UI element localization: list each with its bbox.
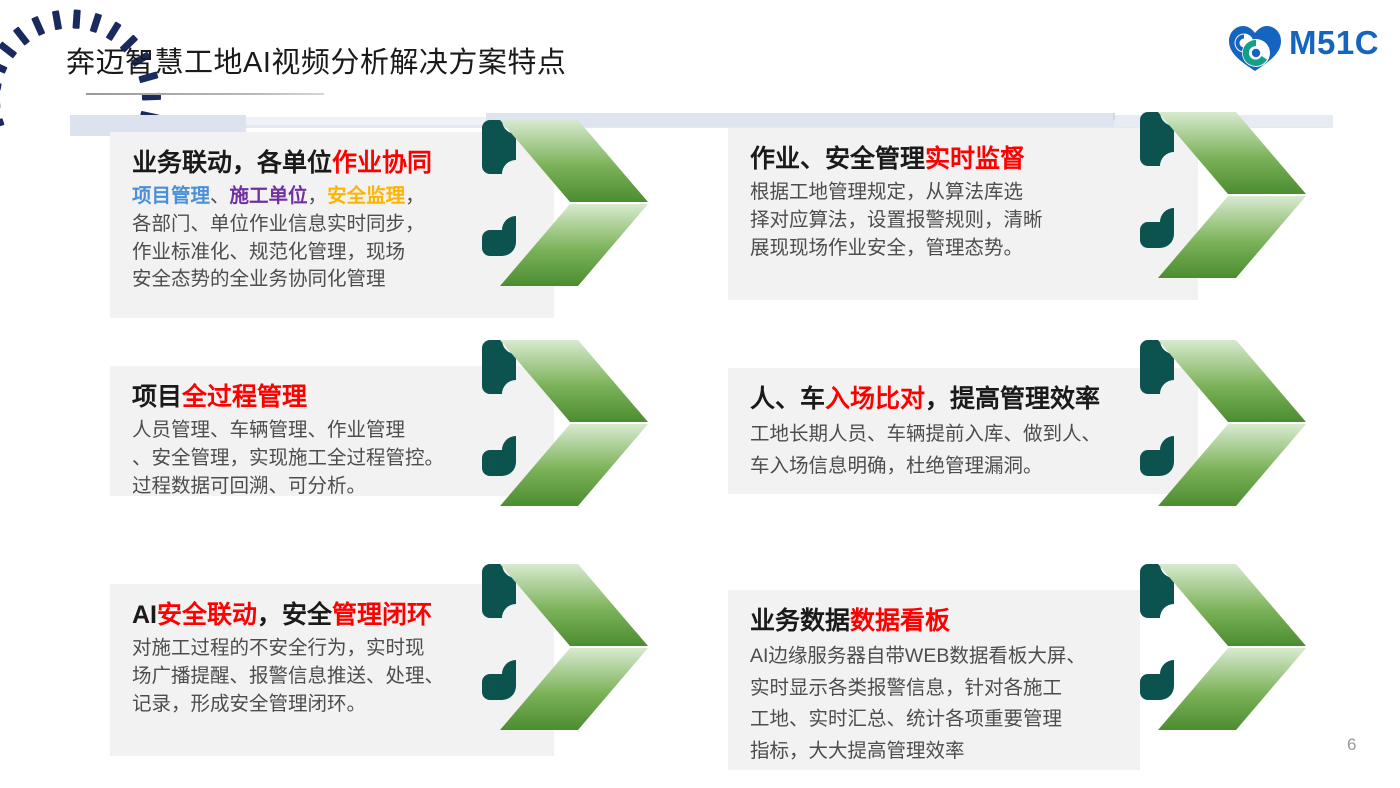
body-keyword: 安全监理	[327, 185, 405, 207]
card-content: 业务数据数据看板 AI边缘服务器自带WEB数据看板大屏、 实时显示各类报警信息，…	[750, 606, 1130, 768]
page-number: 6	[1347, 735, 1356, 755]
card-title-plain: 人、车	[750, 385, 825, 413]
ring-dash	[0, 80, 2, 90]
ring-dash	[90, 13, 103, 33]
card-body: 根据工地管理规定，从算法库选 择对应算法，设置报警规则，清晰 展现现场作业安全，…	[750, 179, 1108, 262]
card-title: 业务联动，各单位作业协同	[132, 148, 464, 179]
card-body: 对施工过程的不安全行为，实时现 场广播提醒、报警信息推送、处理、 记录，形成安全…	[132, 635, 464, 718]
card-content: AI安全联动，安全管理闭环 对施工过程的不安全行为，实时现 场广播提醒、报警信息…	[132, 600, 464, 718]
card-title-plain: AI	[132, 601, 157, 629]
card-data-dashboard[interactable]: 业务数据数据看板 AI边缘服务器自带WEB数据看板大屏、 实时显示各类报警信息，…	[728, 590, 1140, 770]
card-title-plain: 作业、安全管理	[750, 145, 925, 173]
card-title-highlight: 实时监督	[925, 145, 1025, 173]
card-title: 项目全过程管理	[132, 382, 464, 413]
card-content: 人、车入场比对，提高管理效率 工地长期人员、车辆提前入库、做到人、 车入场信息明…	[750, 384, 1168, 482]
card-title-highlight: 全过程管理	[182, 383, 307, 411]
card-entry-comparison[interactable]: 人、车入场比对，提高管理效率 工地长期人员、车辆提前入库、做到人、 车入场信息明…	[728, 368, 1198, 494]
band-tick	[1113, 113, 1115, 120]
chevron-arrow-icon	[1140, 560, 1312, 734]
ring-dash	[0, 41, 17, 58]
body-text: AI边缘服务器自带WEB数据看板大屏、 实时显示各类报警信息，针对各施工 工地、…	[750, 645, 1086, 762]
card-body: 项目管理、施工单位，安全监理， 各部门、单位作业信息实时同步， 作业标准化、规范…	[132, 183, 464, 294]
band-segment	[486, 113, 1114, 127]
body-text: 、	[210, 185, 230, 207]
card-realtime-supervision[interactable]: 作业、安全管理实时监督 根据工地管理规定，从算法库选 择对应算法，设置报警规则，…	[728, 128, 1198, 300]
card-title-highlight: 入场比对	[825, 385, 925, 413]
body-text: ，	[308, 185, 328, 207]
card-content: 业务联动，各单位作业协同 项目管理、施工单位，安全监理， 各部门、单位作业信息实…	[132, 148, 464, 294]
card-title-highlight: 作业协同	[332, 149, 432, 177]
card-title-highlight-2: 管理闭环	[332, 601, 432, 629]
card-full-process[interactable]: 项目全过程管理 人员管理、车辆管理、作业管理 、安全管理，实现施工全过程管控。 …	[110, 366, 554, 496]
card-title-mid: ，安全	[257, 601, 332, 629]
card-title: 人、车入场比对，提高管理效率	[750, 384, 1168, 415]
heart-cloud-logo-icon	[1227, 22, 1283, 72]
body-keyword: 项目管理	[132, 185, 210, 207]
body-text: 工地长期人员、车辆提前入库、做到人、 车入场信息明确，杜绝管理漏洞。	[750, 423, 1101, 477]
card-title-highlight: 数据看板	[850, 607, 950, 635]
card-title-tail: ，提高管理效率	[925, 385, 1100, 413]
ring-dash	[52, 10, 62, 30]
logo-wordmark: M51C	[1289, 24, 1379, 62]
card-body: 工地长期人员、车辆提前入库、做到人、 车入场信息明确，杜绝管理漏洞。	[750, 419, 1168, 482]
card-title: 业务数据数据看板	[750, 606, 1130, 637]
page-title: 奔迈智慧工地AI视频分析解决方案特点	[66, 39, 566, 81]
body-text: 人员管理、车辆管理、作业管理 、安全管理，实现施工全过程管控。 过程数据可回溯、…	[132, 419, 444, 496]
ring-dash	[31, 16, 45, 36]
ring-dash	[72, 9, 80, 28]
card-body: 人员管理、车辆管理、作业管理 、安全管理，实现施工全过程管控。 过程数据可回溯、…	[132, 417, 464, 500]
card-title-highlight: 安全联动	[157, 601, 257, 629]
band-segment	[246, 117, 486, 125]
title-underline-rule	[86, 93, 324, 95]
card-content: 作业、安全管理实时监督 根据工地管理规定，从算法库选 择对应算法，设置报警规则，…	[750, 144, 1108, 262]
body-text: 根据工地管理规定，从算法库选 择对应算法，设置报警规则，清晰 展现现场作业安全，…	[750, 181, 1043, 258]
card-title-plain: 项目	[132, 383, 182, 411]
band-segment	[1114, 115, 1333, 127]
ring-dash	[13, 26, 30, 45]
card-title-plain: 业务数据	[750, 607, 850, 635]
card-content: 项目全过程管理 人员管理、车辆管理、作业管理 、安全管理，实现施工全过程管控。 …	[132, 382, 464, 500]
card-business-linkage[interactable]: 业务联动，各单位作业协同 项目管理、施工单位，安全监理， 各部门、单位作业信息实…	[110, 132, 554, 318]
body-text: 对施工过程的不安全行为，实时现 场广播提醒、报警信息推送、处理、 记录，形成安全…	[132, 637, 444, 714]
brand-logo: M51C	[1227, 20, 1387, 76]
ring-dash	[0, 60, 8, 74]
card-title-plain: 业务联动，各单位	[132, 149, 332, 177]
card-title: AI安全联动，安全管理闭环	[132, 600, 464, 631]
card-body: AI边缘服务器自带WEB数据看板大屏、 实时显示各类报警信息，针对各施工 工地、…	[750, 641, 1130, 767]
card-title: 作业、安全管理实时监督	[750, 144, 1108, 175]
body-keyword: 施工单位	[230, 185, 308, 207]
card-ai-safety-loop[interactable]: AI安全联动，安全管理闭环 对施工过程的不安全行为，实时现 场广播提醒、报警信息…	[110, 584, 554, 756]
